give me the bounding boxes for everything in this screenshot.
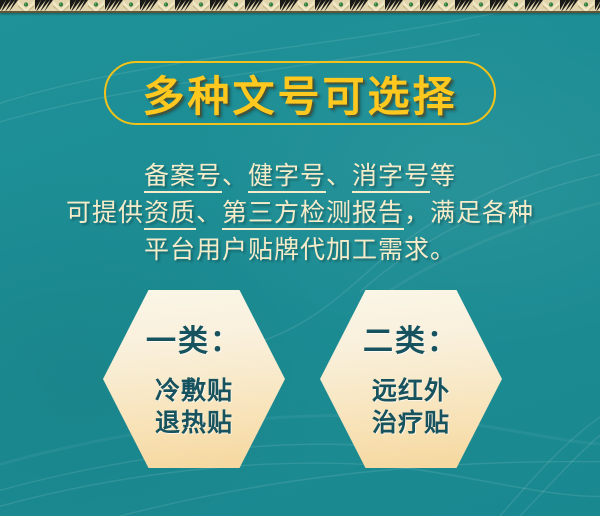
body-text-run: 可提供 [66,200,144,227]
body-text-run: 、 [196,200,222,227]
body-text-run: 、 [222,163,248,190]
body-text-run: 等 [430,163,456,190]
body-underlined-term: 消字号 [352,163,430,193]
category-title: 一类： [146,316,242,360]
body-paragraph: 备案号、健字号、消字号等 可提供资质、第三方检测报告，满足各种 平台用户贴牌代加… [0,158,600,269]
page-title: 多种文号可选择 [104,60,496,126]
category-item-list: 冷敷贴 退热贴 [155,376,233,440]
category-item: 退热贴 [155,408,233,440]
body-line: 可提供资质、第三方检测报告，满足各种 [0,195,600,232]
category-title: 二类： [363,316,459,360]
poster-canvas: 多种文号可选择 备案号、健字号、消字号等 可提供资质、第三方检测报告，满足各种 … [0,0,600,516]
body-underlined-term: 备案号 [144,163,222,193]
category-item: 治疗贴 [372,408,450,440]
body-line: 备案号、健字号、消字号等 [0,158,600,195]
category-item: 冷敷贴 [155,376,233,408]
category-item-list: 远红外 治疗贴 [372,376,450,440]
body-underlined-term: 健字号 [248,163,326,193]
body-text-run: ，满足各种 [404,200,534,227]
body-line: 平台用户贴牌代加工需求。 [0,232,600,269]
category-hexagon-2[interactable]: 二类： 远红外 治疗贴 [320,290,502,468]
ornamental-top-border [0,0,600,13]
category-item: 远红外 [372,376,450,408]
body-underlined-term: 第三方检测报告 [222,200,404,230]
body-text-run: 平台用户贴牌代加工需求。 [144,237,456,264]
body-underlined-term: 资质 [144,200,196,230]
body-text-run: 、 [326,163,352,190]
category-hexagon-1[interactable]: 一类： 冷敷贴 退热贴 [103,290,285,468]
